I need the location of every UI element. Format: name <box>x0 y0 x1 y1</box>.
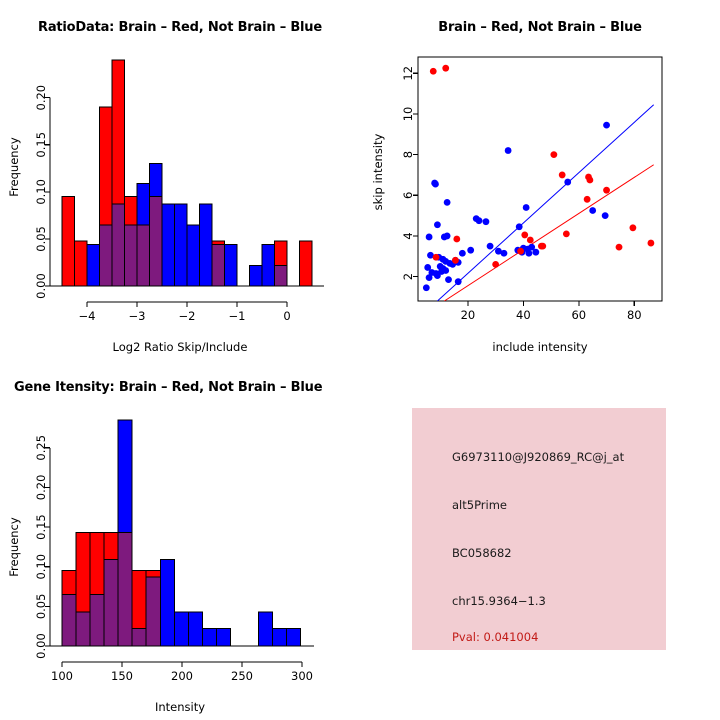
annotation-box: G6973110@J920869_RC@j_at alt5Prime BC058… <box>412 408 666 650</box>
svg-text:2: 2 <box>401 273 415 280</box>
gene-intensity-title: Gene Itensity: Brain – Red, Not Brain – … <box>14 380 322 395</box>
svg-text:20: 20 <box>461 308 476 322</box>
scatter-plot-ylabel: skip intensity <box>371 117 385 227</box>
svg-text:60: 60 <box>571 308 586 322</box>
scatter-plot-panel: Brain – Red, Not Brain – Blue skip inten… <box>360 0 720 360</box>
ratio-histogram-ylabel: Frequency <box>7 117 21 217</box>
svg-text:12: 12 <box>401 66 415 81</box>
svg-text:0.20: 0.20 <box>34 475 48 501</box>
svg-text:100: 100 <box>51 669 73 683</box>
svg-text:−1: −1 <box>229 309 246 323</box>
svg-text:8: 8 <box>401 151 415 158</box>
ratio-histogram-title: RatioData: Brain – Red, Not Brain – Blue <box>0 20 360 35</box>
scatter-plot-xlabel: include intensity <box>360 340 720 354</box>
svg-text:40: 40 <box>516 308 531 322</box>
svg-text:200: 200 <box>171 669 193 683</box>
svg-text:80: 80 <box>627 308 642 322</box>
ratio-histogram-xlabel: Log2 Ratio Skip/Include <box>0 340 360 354</box>
scatter-plot-title: Brain – Red, Not Brain – Blue <box>360 20 720 35</box>
figure-canvas: RatioData: Brain – Red, Not Brain – Blue… <box>0 0 720 720</box>
svg-text:−2: −2 <box>179 309 196 323</box>
svg-text:0.25: 0.25 <box>34 435 48 461</box>
svg-text:150: 150 <box>111 669 133 683</box>
svg-text:0.15: 0.15 <box>34 514 48 540</box>
svg-text:4: 4 <box>401 232 415 239</box>
svg-text:6: 6 <box>401 192 415 199</box>
locus-text: chr15.9364−1.3 <box>452 594 546 608</box>
gene-intensity-panel: Gene Itensity: Brain – Red, Not Brain – … <box>0 360 360 720</box>
svg-text:250: 250 <box>231 669 253 683</box>
svg-text:0.10: 0.10 <box>34 179 48 205</box>
svg-text:−3: −3 <box>129 309 146 323</box>
event-type-text: alt5Prime <box>452 498 507 512</box>
svg-text:0.10: 0.10 <box>34 554 48 580</box>
svg-text:10: 10 <box>401 107 415 122</box>
gene-intensity-plot: 0.000.050.100.150.200.25100150200250300 <box>0 360 360 720</box>
gene-intensity-ylabel: Frequency <box>7 497 21 597</box>
svg-text:0.20: 0.20 <box>34 85 48 111</box>
svg-text:0.05: 0.05 <box>34 594 48 620</box>
svg-text:0.05: 0.05 <box>34 226 48 252</box>
svg-text:0.00: 0.00 <box>34 273 48 299</box>
scatter-plot-area: 2468101220406080 <box>360 0 720 360</box>
svg-text:−4: −4 <box>79 309 96 323</box>
annotation-panel: G6973110@J920869_RC@j_at alt5Prime BC058… <box>360 360 720 720</box>
svg-text:0.15: 0.15 <box>34 132 48 158</box>
svg-text:0.00: 0.00 <box>34 633 48 659</box>
gene-intensity-xlabel: Intensity <box>0 700 360 714</box>
accession-text: BC058682 <box>452 546 512 560</box>
svg-text:0: 0 <box>283 309 290 323</box>
ratio-histogram-plot: 0.000.050.100.150.20−4−3−2−10 <box>0 0 360 360</box>
probe-id-text: G6973110@J920869_RC@j_at <box>452 450 624 464</box>
ratio-histogram-panel: RatioData: Brain – Red, Not Brain – Blue… <box>0 0 360 360</box>
svg-text:300: 300 <box>291 669 313 683</box>
pval-text: Pval: 0.041004 <box>452 630 538 644</box>
